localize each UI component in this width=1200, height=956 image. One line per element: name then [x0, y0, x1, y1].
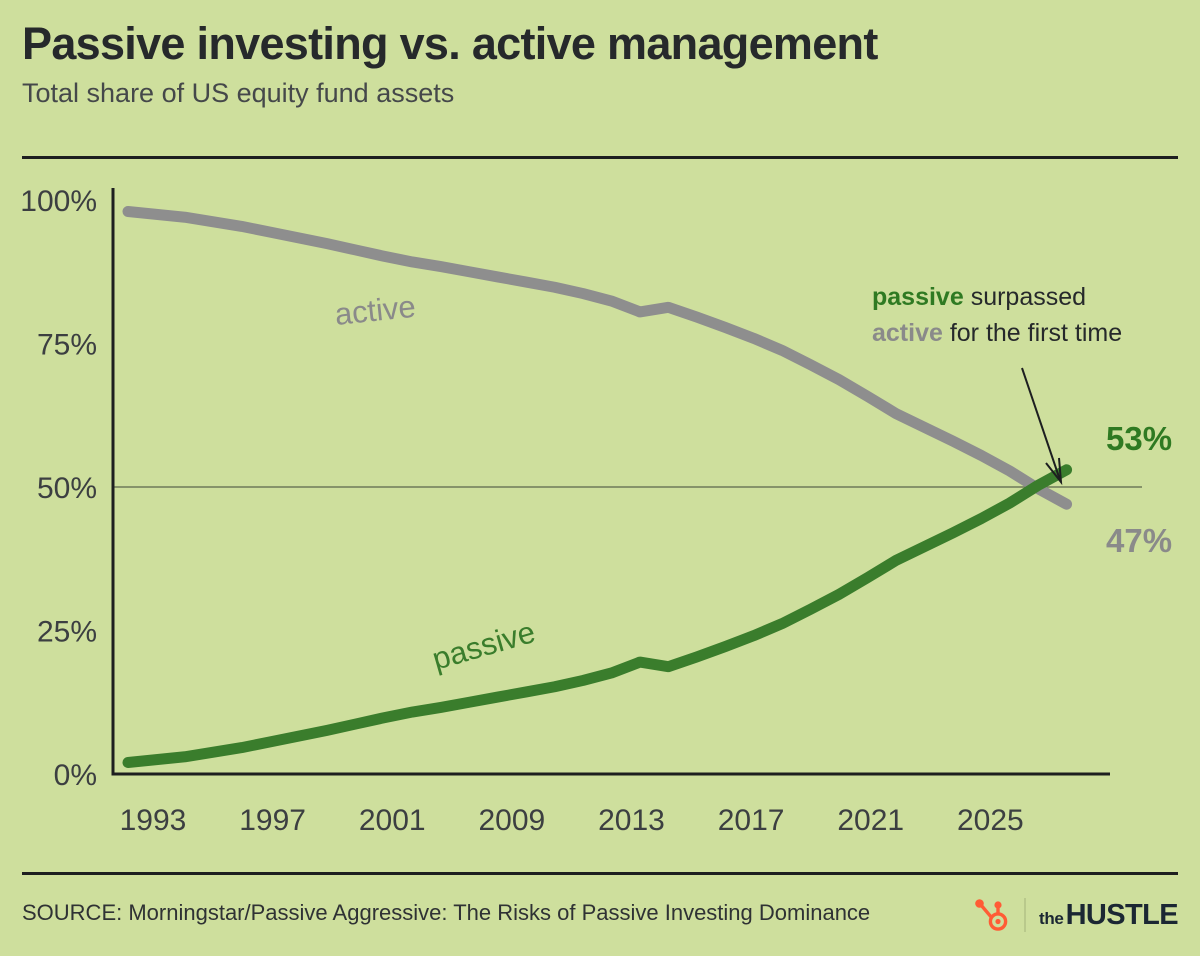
sprocket-dot-left [975, 899, 984, 908]
annotation-rest-2: for the first time [943, 319, 1122, 347]
header: Passive investing vs. active management … [22, 20, 1178, 109]
chart-container: 0%25%50%75%100% 199319972001200920132017… [0, 170, 1200, 850]
sprocket-dot-top [994, 901, 1001, 908]
y-tick-label: 100% [20, 185, 97, 218]
y-axis-tick-labels: 0%25%50%75%100% [20, 185, 97, 792]
x-tick-label: 2017 [718, 804, 785, 837]
x-tick-label: 1997 [239, 804, 306, 837]
series-label-active: active [333, 289, 417, 332]
x-tick-label: 1993 [120, 804, 187, 837]
series-label-passive: passive [428, 614, 539, 677]
divider-bottom [22, 872, 1178, 875]
annotation-bold-active: active [872, 319, 943, 347]
y-tick-label: 0% [54, 759, 97, 792]
infographic-page: Passive investing vs. active management … [0, 0, 1200, 956]
chart-axes [113, 188, 1110, 774]
wordmark-the: the [1039, 909, 1064, 929]
line-chart: 0%25%50%75%100% 199319972001200920132017… [0, 170, 1200, 850]
footer: SOURCE: Morningstar/Passive Aggressive: … [22, 895, 1178, 943]
end-value-passive: 53% [1106, 420, 1172, 457]
x-tick-label: 2001 [359, 804, 426, 837]
annotation-arrow-icon [1022, 368, 1061, 482]
y-tick-label: 50% [37, 472, 97, 505]
wordmark-hustle: HUSTLE [1066, 899, 1178, 932]
divider-top [22, 156, 1178, 159]
y-tick-label: 25% [37, 616, 97, 649]
hubspot-sprocket-icon [970, 894, 1012, 936]
series-line-active [128, 211, 1067, 504]
annotation-rest-1: surpassed [964, 283, 1086, 311]
x-tick-label: 2021 [837, 804, 904, 837]
page-title: Passive investing vs. active management [22, 20, 1178, 67]
end-value-active: 47% [1106, 522, 1172, 559]
annotation-line-1: passive surpassed [872, 283, 1086, 311]
y-tick-label: 75% [37, 329, 97, 362]
x-tick-label: 2013 [598, 804, 665, 837]
annotation-line-2: active for the first time [872, 319, 1122, 347]
x-tick-label: 2009 [479, 804, 546, 837]
brand-divider [1024, 898, 1026, 932]
x-axis-tick-labels: 19931997200120092013201720212025 [120, 804, 1024, 837]
series-line-passive [128, 470, 1067, 763]
x-tick-label: 2025 [957, 804, 1024, 837]
source-note: SOURCE: Morningstar/Passive Aggressive: … [22, 900, 870, 926]
page-subtitle: Total share of US equity fund assets [22, 79, 1178, 109]
annotation-bold-passive: passive [872, 283, 964, 311]
sprocket-center [995, 919, 1000, 924]
brand-lockup: the HUSTLE [970, 891, 1178, 939]
hustle-wordmark: the HUSTLE [1039, 899, 1178, 932]
